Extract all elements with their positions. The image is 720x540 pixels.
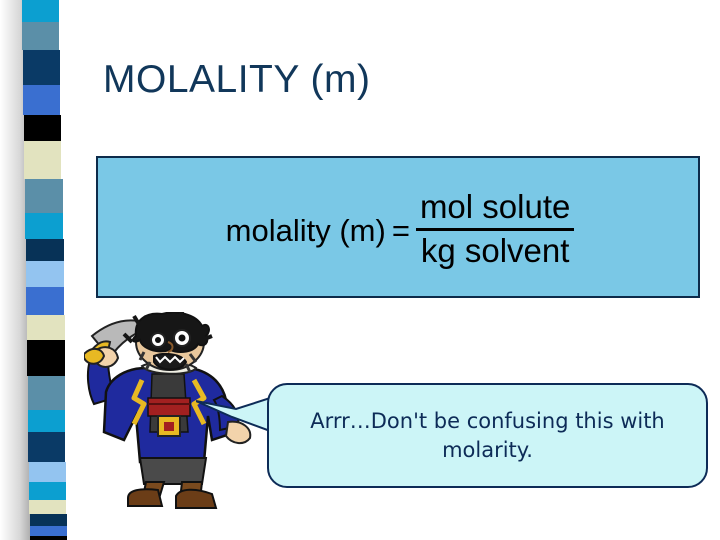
formula-fraction: mol solute kg solvent bbox=[416, 189, 574, 270]
band-stripe bbox=[22, 0, 59, 22]
band-stripe bbox=[29, 462, 66, 482]
molality-formula: molality (m) = mol solute kg solvent bbox=[98, 158, 702, 300]
band-stripe bbox=[30, 536, 67, 540]
band-stripe bbox=[23, 50, 60, 85]
band-stripe bbox=[23, 85, 60, 115]
slide-canvas: MOLALITY (m) molality (m) = mol solute k… bbox=[0, 0, 720, 540]
band-stripe bbox=[26, 287, 64, 315]
speech-bubble-text: Arrr…Don't be confusing this with molari… bbox=[269, 407, 706, 464]
fraction-denominator: kg solvent bbox=[417, 233, 574, 270]
band-stripe bbox=[28, 432, 65, 462]
band-stripe bbox=[27, 315, 65, 340]
band-stripe bbox=[25, 213, 63, 239]
vertical-striped-band bbox=[26, 0, 66, 540]
fraction-bar bbox=[416, 228, 574, 231]
molality-formula-box: molality (m) = mol solute kg solvent bbox=[96, 156, 700, 298]
band-stripe bbox=[28, 376, 65, 410]
pirate-speech-bubble: Arrr…Don't be confusing this with molari… bbox=[267, 383, 708, 488]
band-stripe bbox=[26, 261, 64, 287]
band-stripe bbox=[29, 500, 66, 514]
band-stripe bbox=[30, 526, 67, 536]
equals-sign: = bbox=[392, 213, 410, 249]
band-stripe bbox=[29, 482, 66, 500]
band-stripe bbox=[22, 22, 59, 50]
band-stripe bbox=[28, 410, 65, 432]
band-stripe bbox=[26, 239, 64, 261]
band-stripe bbox=[24, 141, 61, 179]
band-stripe bbox=[25, 179, 63, 213]
formula-left-hand-side: molality (m) bbox=[226, 213, 386, 249]
fraction-numerator: mol solute bbox=[416, 189, 574, 226]
band-stripe bbox=[27, 340, 65, 376]
band-stripe bbox=[24, 115, 61, 141]
page-title: MOLALITY (m) bbox=[103, 58, 370, 102]
band-stripe bbox=[30, 514, 67, 526]
